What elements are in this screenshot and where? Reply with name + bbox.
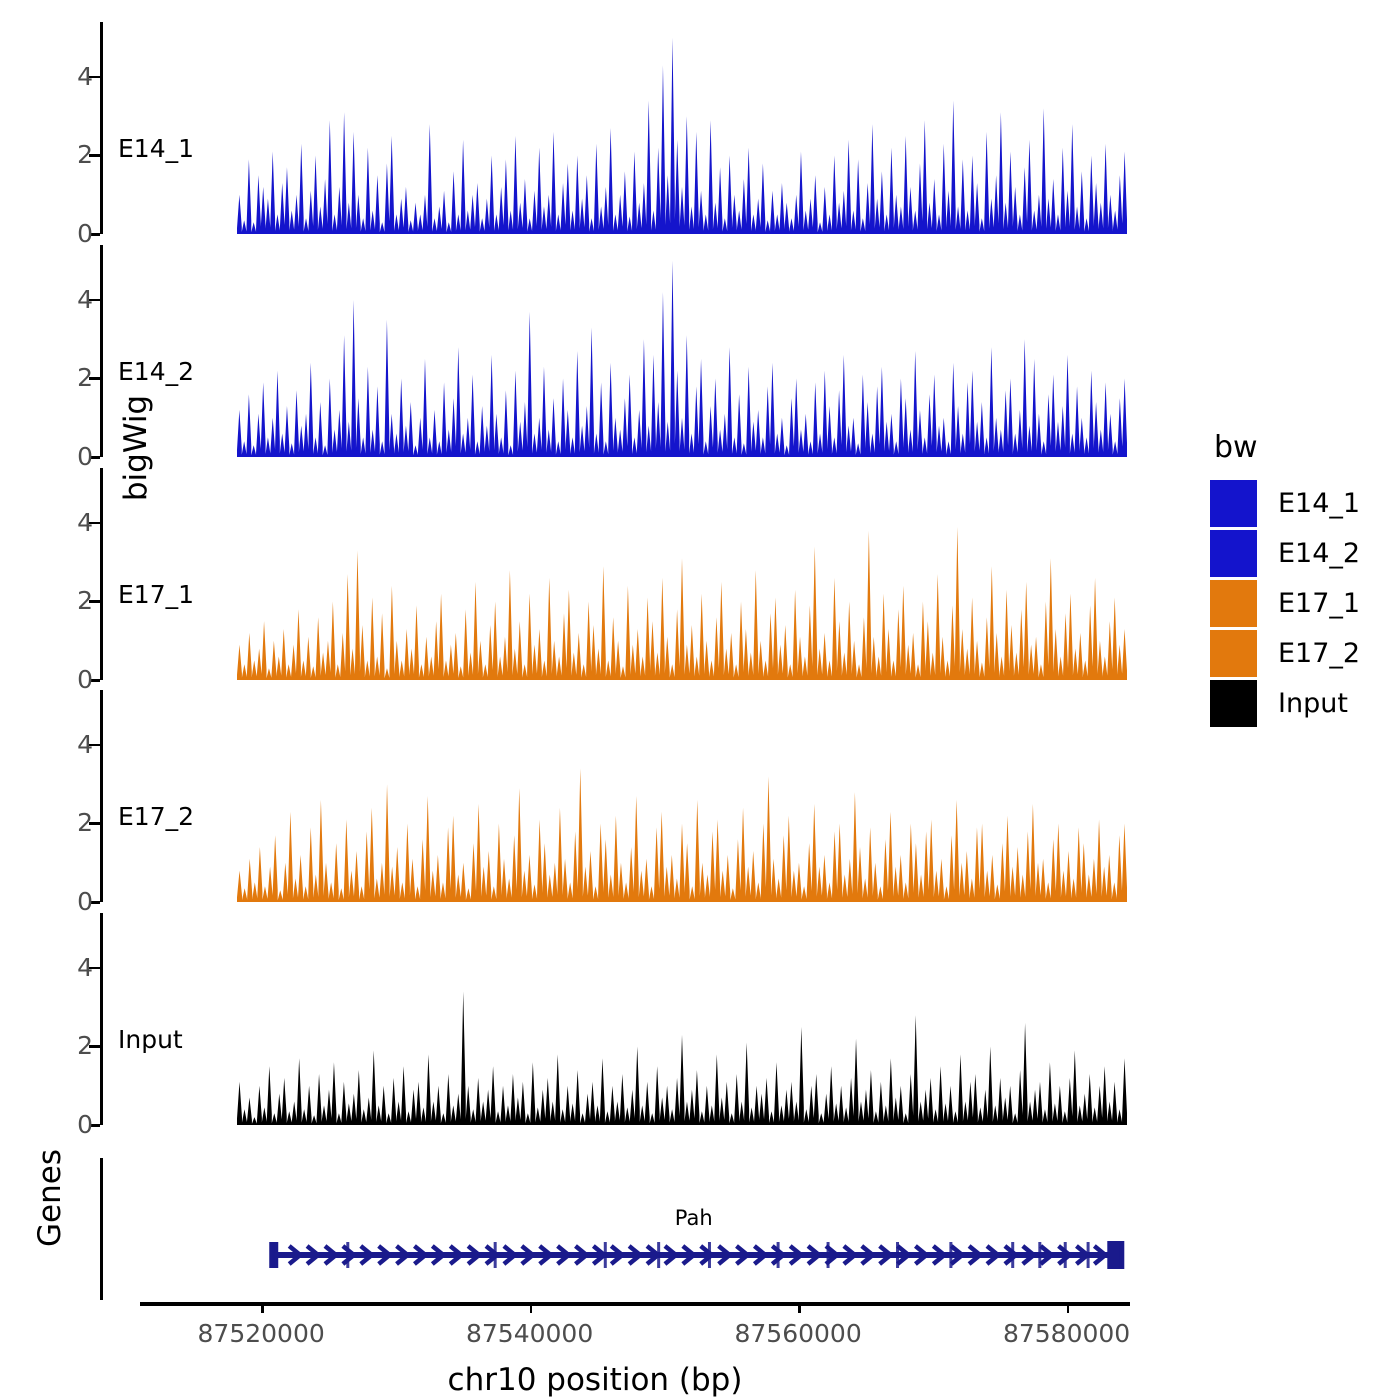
genome-browser-plot: bigWig Genes 024E14_1024E14_2024E17_1024… <box>0 0 1400 1400</box>
legend-swatch-icon <box>1210 680 1257 727</box>
x-axis-tick <box>798 1302 801 1313</box>
x-axis-tick-label: 87520000 <box>198 1319 325 1348</box>
legend-item-label: E14_1 <box>1278 488 1360 519</box>
coverage-track-e17_1 <box>237 468 1127 680</box>
y-axis-tick-label: 4 <box>77 285 93 314</box>
x-axis-tick-label: 87580000 <box>1003 1319 1130 1348</box>
legend-item-label: E17_1 <box>1278 588 1360 619</box>
legend: bw E14_1E14_2E17_1E17_2Input <box>1210 430 1360 729</box>
x-axis-tick-label: 87560000 <box>734 1319 861 1348</box>
facet-panel-e14_2: 024E14_2 <box>100 245 1140 457</box>
y-axis-tick-label: 0 <box>77 1110 93 1139</box>
legend-item-e17_1[interactable]: E17_1 <box>1210 579 1360 627</box>
y-axis-tick-label: 4 <box>77 62 93 91</box>
y-axis-tick-label: 0 <box>77 442 93 471</box>
facet-panel-input: 024Input <box>100 913 1140 1125</box>
legend-swatch-icon <box>1210 630 1257 677</box>
legend-item-input[interactable]: Input <box>1210 679 1360 727</box>
y-axis-tick-label: 2 <box>77 140 93 169</box>
track-label-e17_1: E17_1 <box>118 580 194 609</box>
y-axis-line <box>100 22 103 234</box>
facet-panel-e17_2: 024E17_2 <box>100 690 1140 902</box>
y-axis-tick-label: 0 <box>77 219 93 248</box>
coverage-track-input <box>237 913 1127 1125</box>
track-label-e17_2: E17_2 <box>118 802 194 831</box>
track-label-e14_1: E14_1 <box>118 134 194 163</box>
facet-panel-e14_1: 024E14_1 <box>100 22 1140 234</box>
y-axis-tick-label: 2 <box>77 363 93 392</box>
legend-swatch-icon <box>1210 530 1257 577</box>
legend-item-e17_2[interactable]: E17_2 <box>1210 629 1360 677</box>
legend-swatch-icon <box>1210 580 1257 627</box>
y-axis-tick-label: 2 <box>77 586 93 615</box>
y-axis-line <box>100 245 103 457</box>
legend-title: bw <box>1214 430 1360 465</box>
gene-label: Pah <box>675 1206 713 1230</box>
gene-track[interactable]: Pah <box>237 1158 1127 1300</box>
y-axis-tick-label: 4 <box>77 730 93 759</box>
legend-item-label: E17_2 <box>1278 638 1360 669</box>
y-axis-tick-label: 4 <box>77 953 93 982</box>
y-axis-tick-label: 0 <box>77 887 93 916</box>
coverage-track-e17_2 <box>237 690 1127 902</box>
x-axis-title: chr10 position (bp) <box>0 1362 1190 1398</box>
legend-swatch-icon <box>1210 480 1257 527</box>
genes-axis-title: Genes <box>32 1118 68 1278</box>
y-axis-line <box>100 690 103 902</box>
x-axis-tick-label: 87540000 <box>466 1319 593 1348</box>
legend-item-label: E14_2 <box>1278 538 1360 569</box>
y-axis-line <box>100 913 103 1125</box>
y-axis-tick-label: 2 <box>77 1031 93 1060</box>
legend-items: E14_1E14_2E17_1E17_2Input <box>1210 479 1360 727</box>
coverage-track-e14_2 <box>237 245 1127 457</box>
coverage-track-e14_1 <box>237 22 1127 234</box>
y-axis-line <box>100 468 103 680</box>
x-axis-line <box>140 1302 1130 1306</box>
y-axis-tick-label: 0 <box>77 665 93 694</box>
legend-item-e14_1[interactable]: E14_1 <box>1210 479 1360 527</box>
x-axis-tick <box>530 1302 533 1313</box>
legend-item-label: Input <box>1278 688 1348 719</box>
facet-panel-e17_1: 024E17_1 <box>100 468 1140 680</box>
y-axis-tick-label: 2 <box>77 808 93 837</box>
x-axis-tick <box>261 1302 264 1313</box>
track-label-e14_2: E14_2 <box>118 357 194 386</box>
y-axis-tick-label: 4 <box>77 508 93 537</box>
x-axis-tick <box>1067 1302 1070 1313</box>
genes-axis-line <box>100 1158 103 1300</box>
track-label-input: Input <box>118 1025 183 1054</box>
legend-item-e14_2[interactable]: E14_2 <box>1210 529 1360 577</box>
